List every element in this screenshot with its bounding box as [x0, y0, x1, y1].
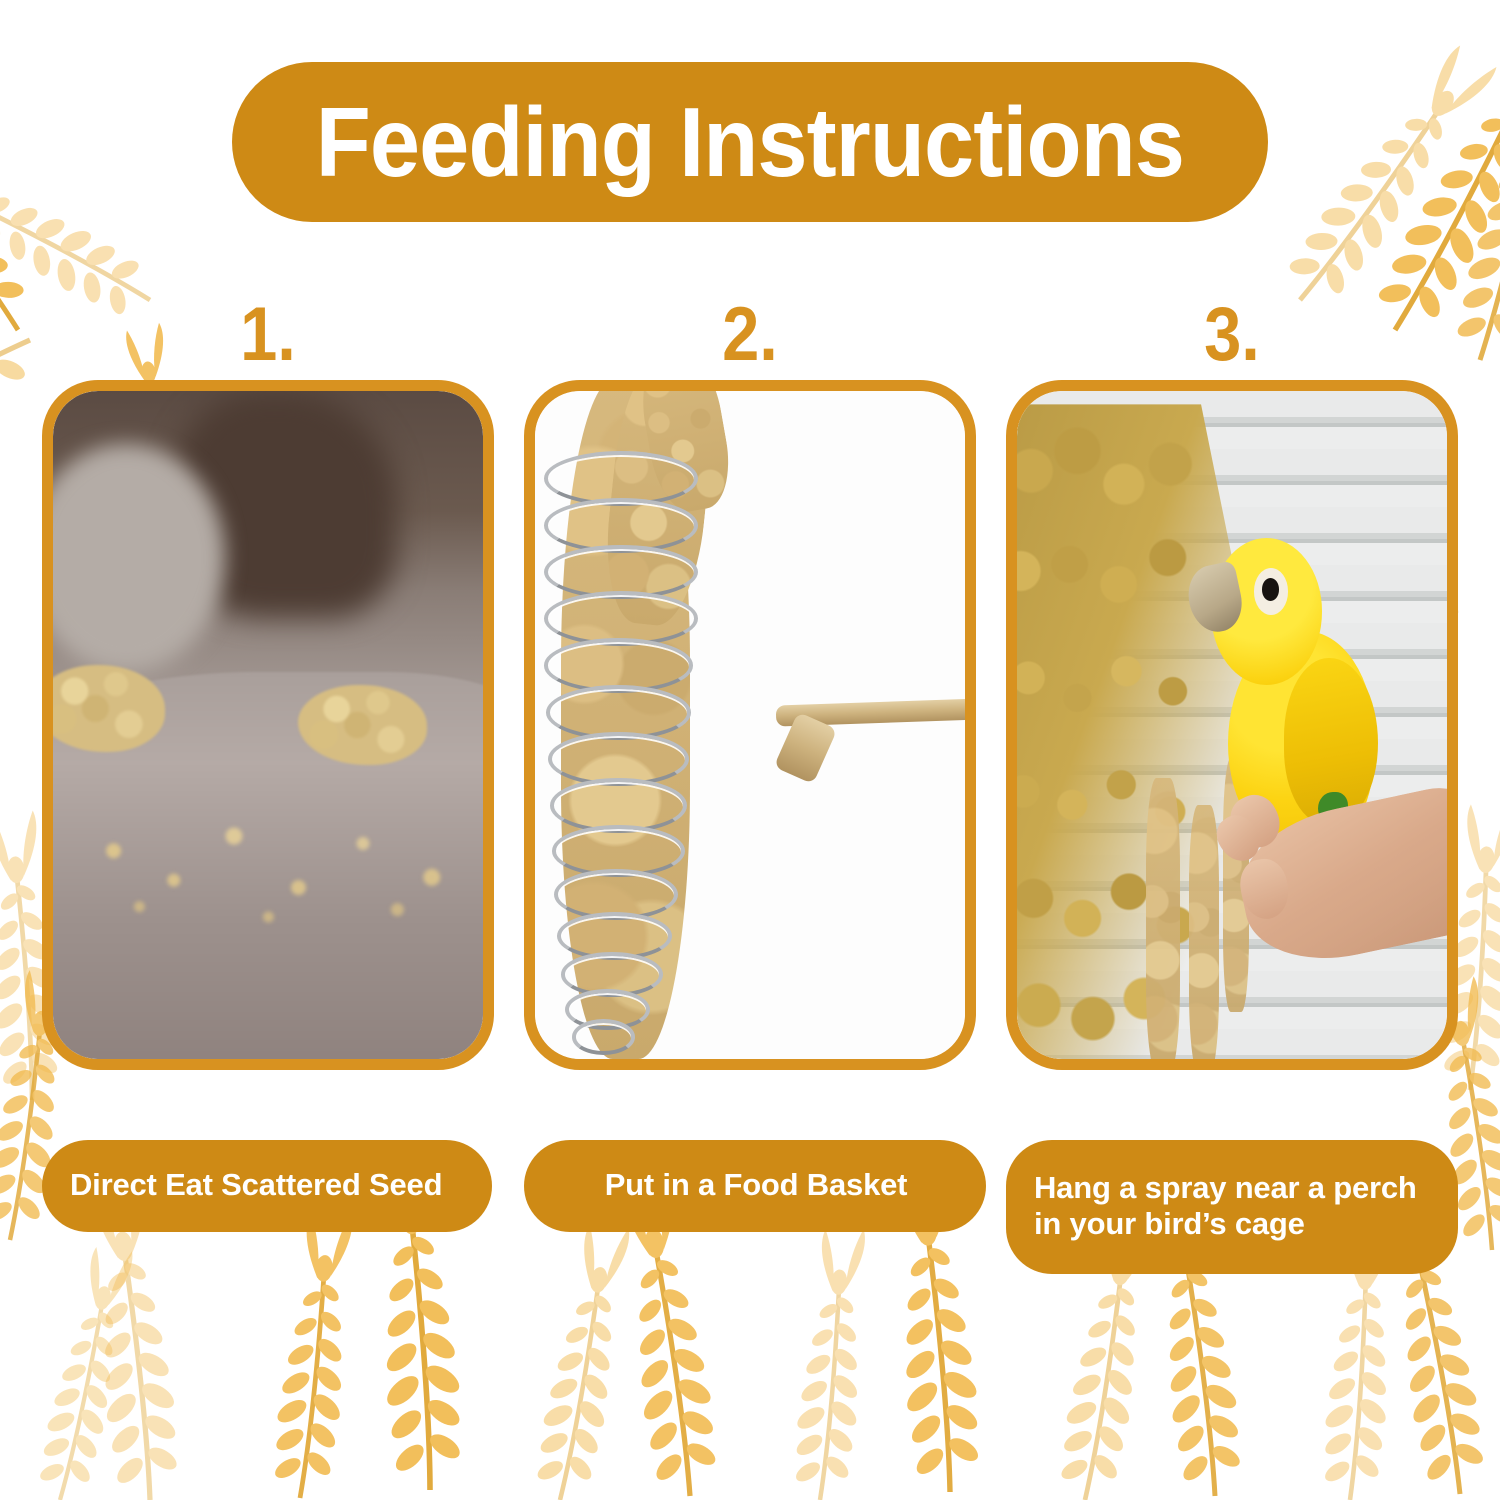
step-3: 3.: [1006, 296, 1458, 1274]
step-1-number: 1.: [69, 296, 467, 380]
step-2-caption: Put in a Food Basket: [524, 1140, 986, 1232]
step-1-photo-frame: [42, 380, 494, 1070]
step-2-photo-frame: [524, 380, 976, 1070]
step-3-caption-text: Hang a spray near a perch in your bird’s…: [1034, 1170, 1432, 1241]
step-3-photo-conure-eating-hanging-millet-spray: [1017, 391, 1447, 1059]
step-3-photo-frame: [1006, 380, 1458, 1070]
page-title: Feeding Instructions: [316, 93, 1184, 191]
step-3-caption: Hang a spray near a perch in your bird’s…: [1006, 1140, 1458, 1274]
step-3-number: 3.: [1033, 296, 1431, 380]
step-1-photo-budgies-eating-seed: [53, 391, 483, 1059]
infographic-page: Feeding Instructions 1.: [0, 0, 1500, 1500]
step-1-caption: Direct Eat Scattered Seed: [42, 1140, 492, 1232]
step-2: 2.: [524, 296, 976, 1232]
step-1: 1.: [42, 296, 494, 1232]
page-title-bar: Feeding Instructions: [232, 62, 1268, 222]
step-2-number: 2.: [551, 296, 949, 380]
step-2-photo-spiral-food-basket-with-macaws: [535, 391, 965, 1059]
step-2-caption-text: Put in a Food Basket: [605, 1167, 908, 1203]
step-1-caption-text: Direct Eat Scattered Seed: [70, 1167, 442, 1203]
steps-container: 1.: [0, 0, 1500, 1500]
